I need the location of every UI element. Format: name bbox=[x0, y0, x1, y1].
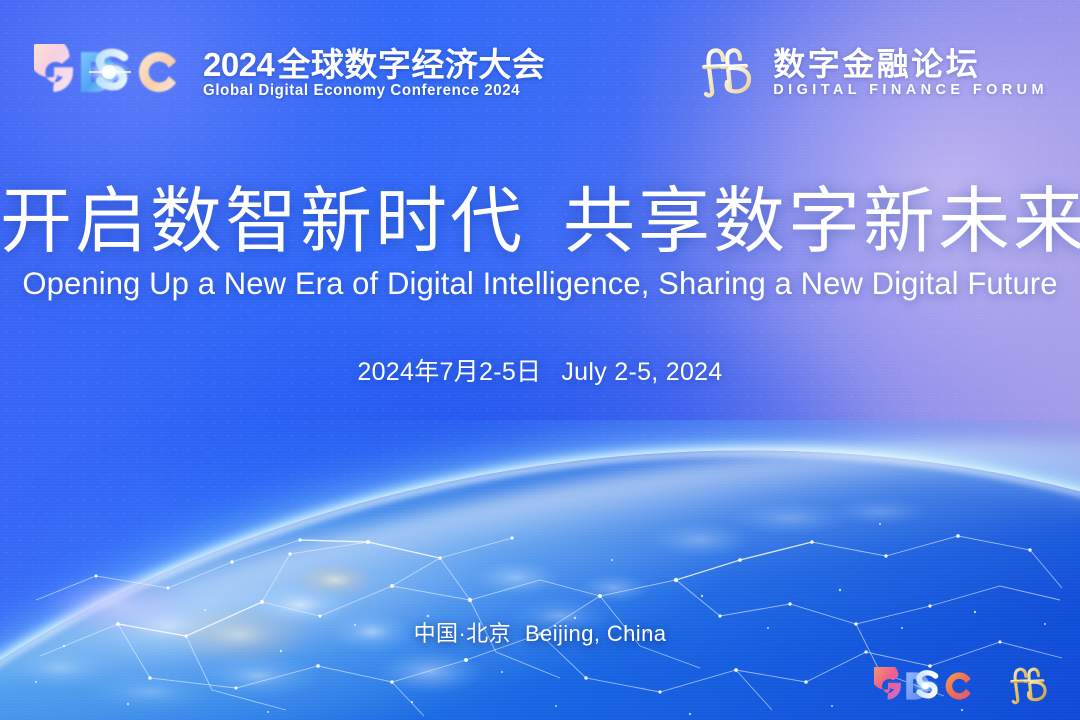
event-location-cn: 中国·北京 bbox=[414, 621, 511, 646]
hero-headline-cn-part1: 开启数智新时代 bbox=[0, 182, 525, 262]
hero-headline-cn: 开启数智新时代共享数字新未来 bbox=[0, 186, 1080, 259]
hero-block: 开启数智新时代共享数字新未来 Opening Up a New Era of D… bbox=[0, 186, 1080, 300]
event-date-cn: 2024年7月2-5日 bbox=[357, 358, 541, 386]
event-location: 中国·北京Beijing, China bbox=[0, 616, 1080, 648]
gdec-logo-icon bbox=[34, 44, 192, 100]
event-date-en: July 2-5, 2024 bbox=[561, 358, 722, 386]
hero-headline-en: Opening Up a New Era of Digital Intellig… bbox=[8, 268, 1072, 300]
conference-title-en: Global Digital Economy Conference 2024 bbox=[203, 83, 535, 99]
header-left-brand: 2024全球数字经济大会 Global Digital Economy Conf… bbox=[34, 44, 545, 100]
conference-year: 2024 bbox=[203, 46, 274, 83]
event-date: 2024年7月2-5日July 2-5, 2024 bbox=[0, 352, 1080, 388]
conference-title-cn: 2024全球数字经济大会 bbox=[203, 48, 545, 81]
conference-backdrop: 2024全球数字经济大会 Global Digital Economy Conf… bbox=[0, 0, 1080, 720]
digital-finance-forum-monogram-icon bbox=[699, 46, 761, 100]
event-location-en: Beijing, China bbox=[525, 621, 666, 646]
header-right-brand: 数字金融论坛 DIGITAL FINANCE FORUM bbox=[699, 46, 1048, 100]
conference-title-cn-text: 全球数字经济大会 bbox=[277, 46, 545, 83]
footer-logo-group bbox=[874, 666, 1054, 706]
gdec-logo-small-icon bbox=[874, 667, 982, 705]
hero-headline-cn-part2: 共享数字新未来 bbox=[563, 182, 1080, 262]
digital-finance-forum-monogram-small-icon bbox=[1008, 666, 1054, 706]
forum-title-cn: 数字金融论坛 bbox=[773, 48, 1048, 80]
forum-title-en: DIGITAL FINANCE FORUM bbox=[773, 83, 1048, 98]
